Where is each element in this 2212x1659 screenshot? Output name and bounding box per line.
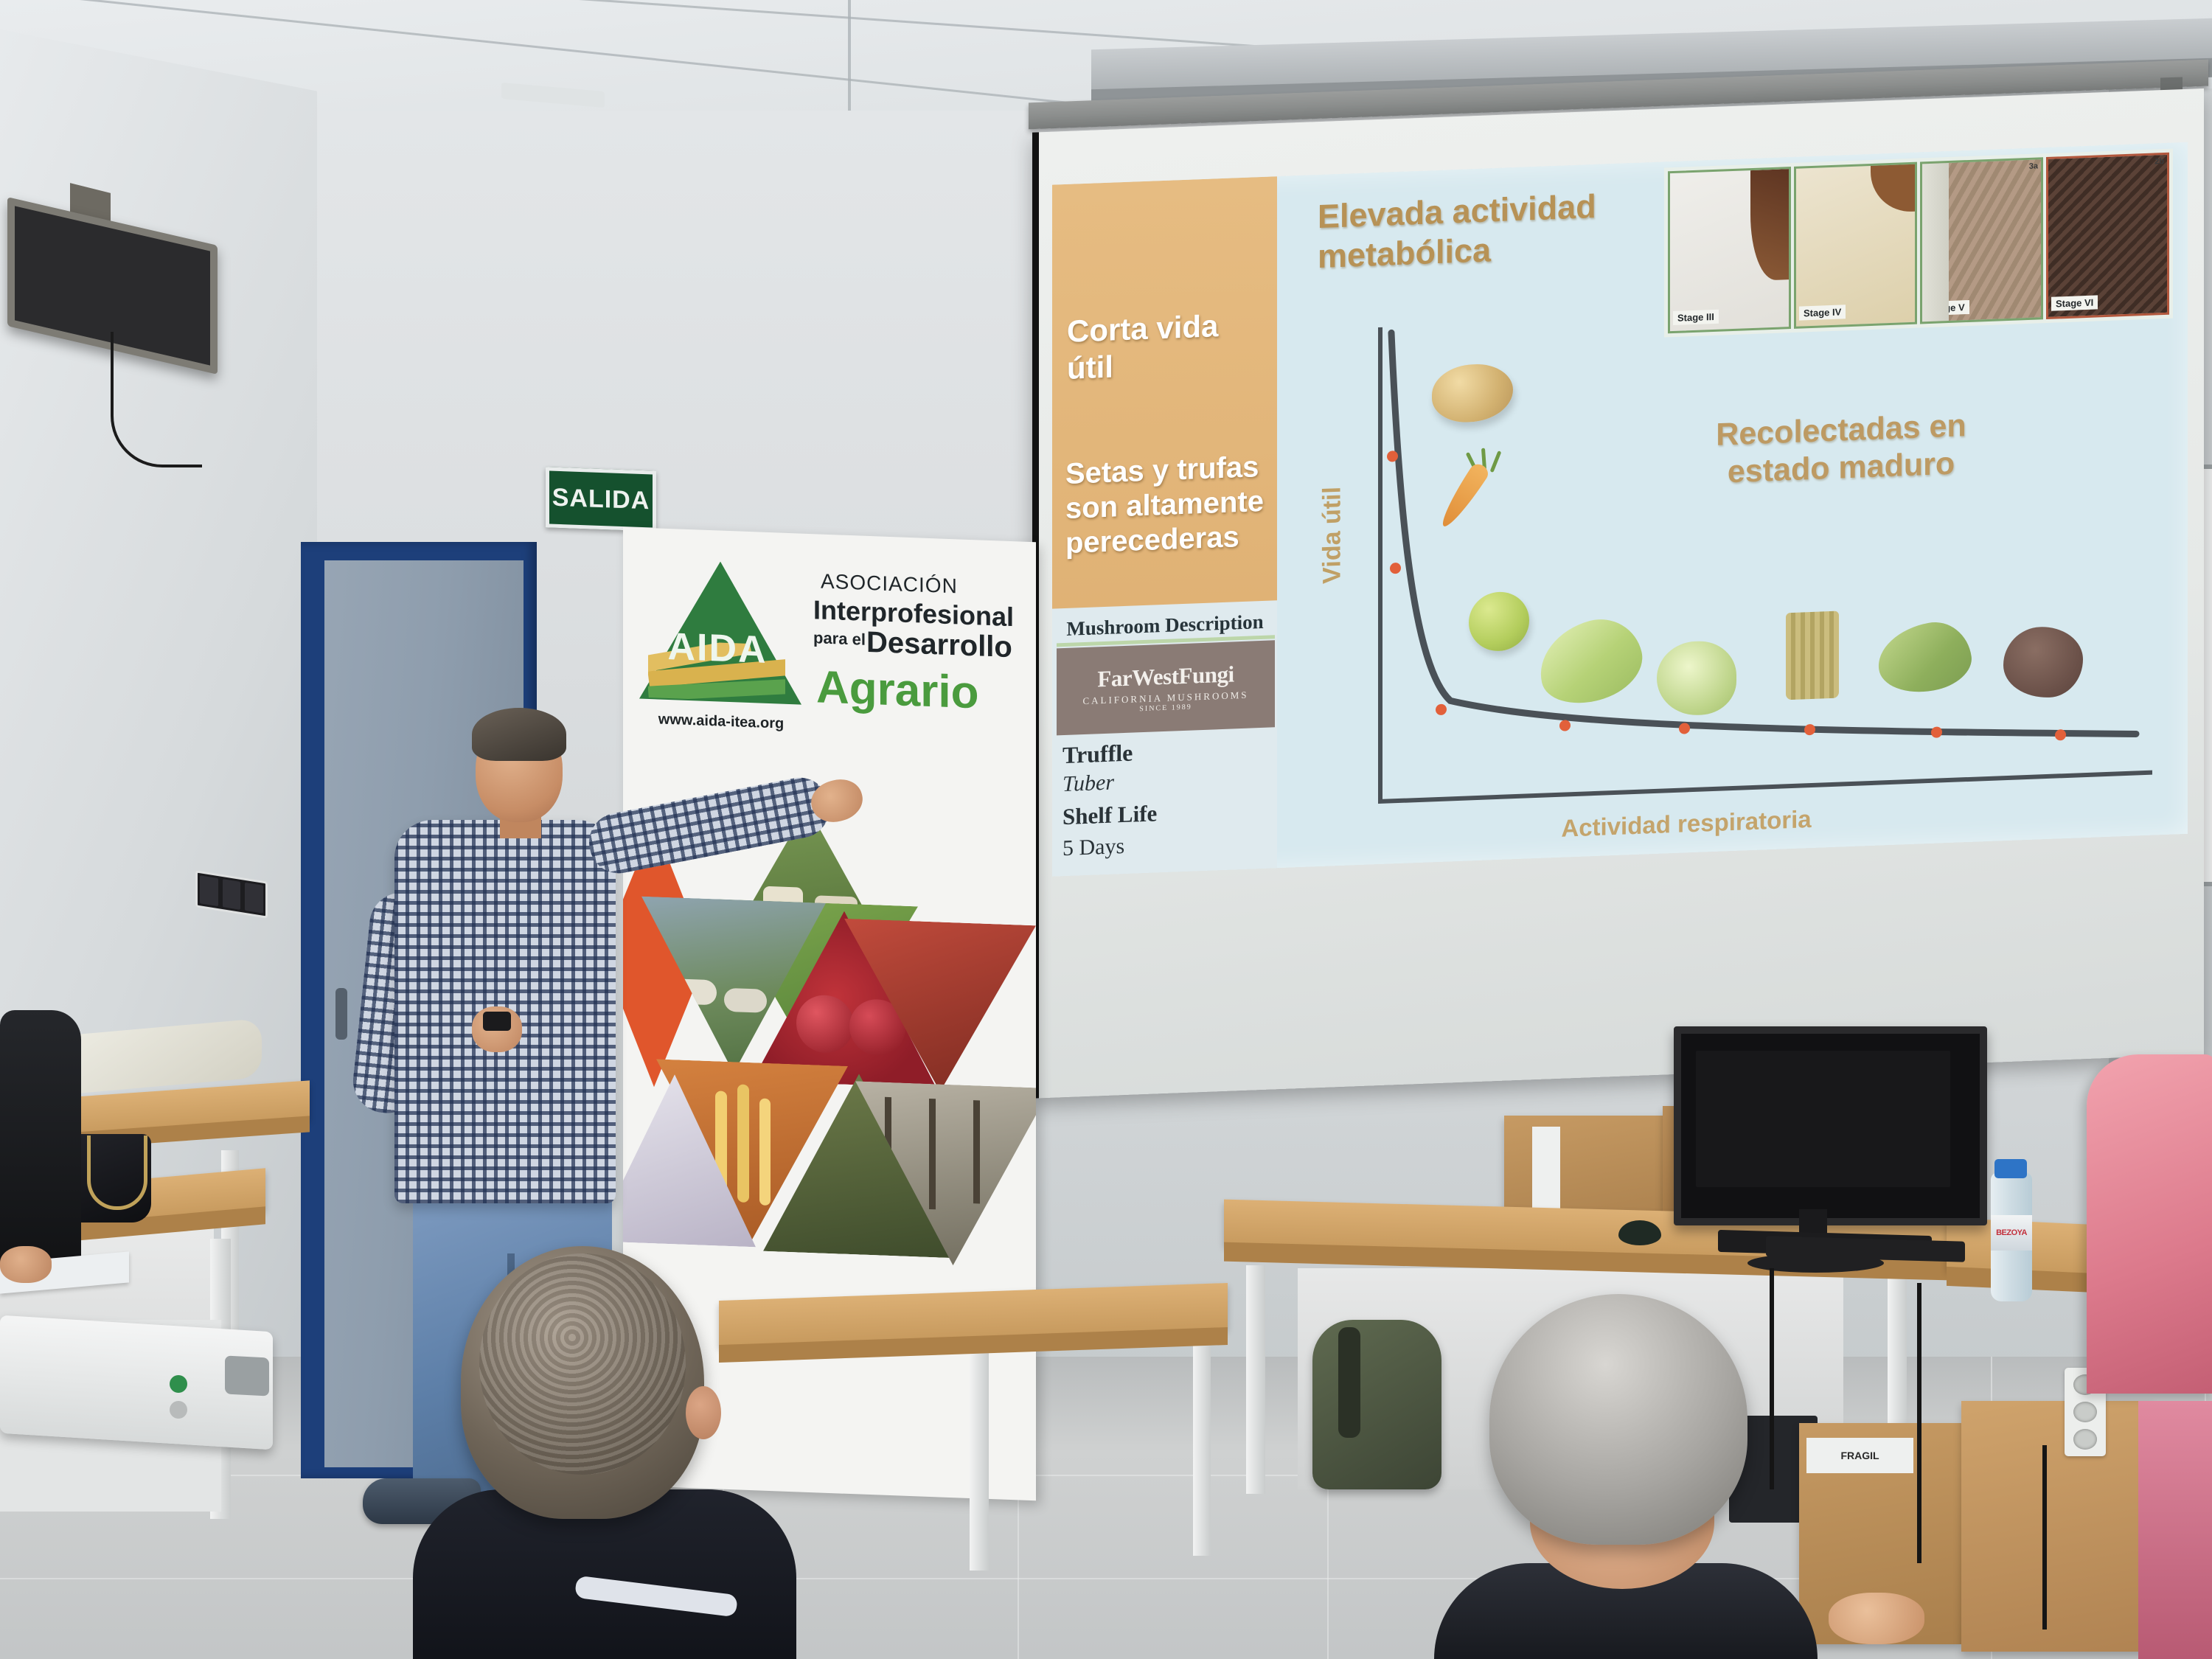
banner-line-desarrollo: Desarrollo	[866, 626, 1012, 664]
mushroom-genus: Tuber	[1062, 770, 1114, 797]
brand-since: SINCE 1989	[1139, 703, 1192, 714]
table-leg	[970, 1349, 989, 1571]
slide-headline-perishable: Setas y trufas son altamente perecederas	[1065, 449, 1276, 561]
switch-rocker-2[interactable]	[223, 879, 241, 910]
stage-corner-label-1: 4a	[1777, 171, 1786, 180]
bottle-label: BEZOYA	[1991, 1215, 2032, 1251]
backpack-strap	[1338, 1327, 1360, 1438]
aida-website-url: www.aida-itea.org	[636, 710, 806, 733]
power-cable	[2042, 1445, 2113, 1630]
handbag-chain-strap	[87, 1135, 147, 1210]
projection-screen: Corta vida útil Setas y trufas son altam…	[1032, 88, 2197, 1098]
table-leg	[1193, 1342, 1211, 1556]
presenter-hair	[472, 708, 566, 761]
shelf-life-value: 5 Days	[1062, 834, 1124, 861]
bottle-brand-text: BEZOYA	[1996, 1228, 2027, 1237]
monitor-cable	[1917, 1283, 2010, 1563]
exit-sign: SALIDA	[546, 467, 656, 531]
banner-line-asociacion: ASOCIACIÓN	[821, 570, 958, 599]
table-leg	[1246, 1265, 1265, 1494]
hand	[0, 1246, 52, 1283]
computer-mouse[interactable]	[1618, 1220, 1661, 1245]
slide-headline-short-life: Corta vida útil	[1067, 306, 1270, 386]
projector-power-button[interactable]	[170, 1375, 187, 1393]
backpack	[1312, 1320, 1441, 1489]
audience-member-pink-jacket-lower	[2138, 1401, 2212, 1659]
audience-member-right-hair	[1489, 1294, 1747, 1545]
audience-member-center-hair-texture	[479, 1253, 686, 1475]
chart-y-axis-label: Vida útil	[1318, 424, 1347, 646]
door-handle[interactable]	[335, 988, 347, 1040]
monitor-back-panel	[1696, 1051, 1950, 1187]
shelf-life-chart: Vida útil Actividad respiratoria	[1295, 291, 2166, 839]
audience-member-center-ear	[686, 1386, 721, 1439]
switch-rocker-1[interactable]	[200, 875, 218, 906]
banner-line-agrario: Agrario	[816, 661, 978, 719]
tv-cable	[111, 332, 202, 467]
carrot-image	[1454, 460, 1473, 532]
lecture-room-photo: SALIDA Corta vida útil Setas y trufas so…	[0, 0, 2212, 1659]
bottle-cap	[1994, 1159, 2027, 1178]
projector-menu-button[interactable]	[170, 1401, 187, 1419]
far-west-fungi-logo: FarWestFungi CALIFORNIA MUSHROOMS SINCE …	[1057, 640, 1275, 735]
banner-line-para-el: para el	[813, 628, 866, 650]
chart-x-axis-label: Actividad respiratoria	[1428, 800, 1944, 847]
cabbage-image	[1657, 640, 1736, 717]
socket-outlet-2[interactable]	[2073, 1402, 2097, 1422]
slide-heading-metabolic: Elevada actividad metabólica	[1318, 184, 1664, 276]
asparagus-image	[1786, 611, 1839, 700]
audience-member-left	[0, 1010, 81, 1276]
presentation-slide: Corta vida útil Setas y trufas son altam…	[1052, 142, 2188, 877]
presentation-clicker[interactable]	[483, 1012, 511, 1031]
switch-rocker-3[interactable]	[245, 883, 263, 914]
exit-sign-label: SALIDA	[552, 483, 650, 515]
brand-name: FarWestFungi	[1097, 661, 1234, 692]
audience-member-pink-jacket	[2087, 1054, 2212, 1394]
shelf-life-label: Shelf Life	[1062, 800, 1157, 830]
stage-corner-label-3: 3a	[2029, 161, 2038, 170]
audience-hand-foreground	[1829, 1593, 1924, 1644]
stage-corner-label-2: 2a	[1903, 167, 1912, 175]
stage-corner-label-4: 2b	[2154, 157, 2164, 166]
desk-cable	[1770, 1268, 1840, 1489]
mushroom-common-name: Truffle	[1062, 740, 1133, 770]
aida-wordmark: AIDA	[658, 624, 776, 672]
projector-lens	[225, 1355, 269, 1396]
fragile-label-text: FRAGIL	[1840, 1450, 1879, 1461]
